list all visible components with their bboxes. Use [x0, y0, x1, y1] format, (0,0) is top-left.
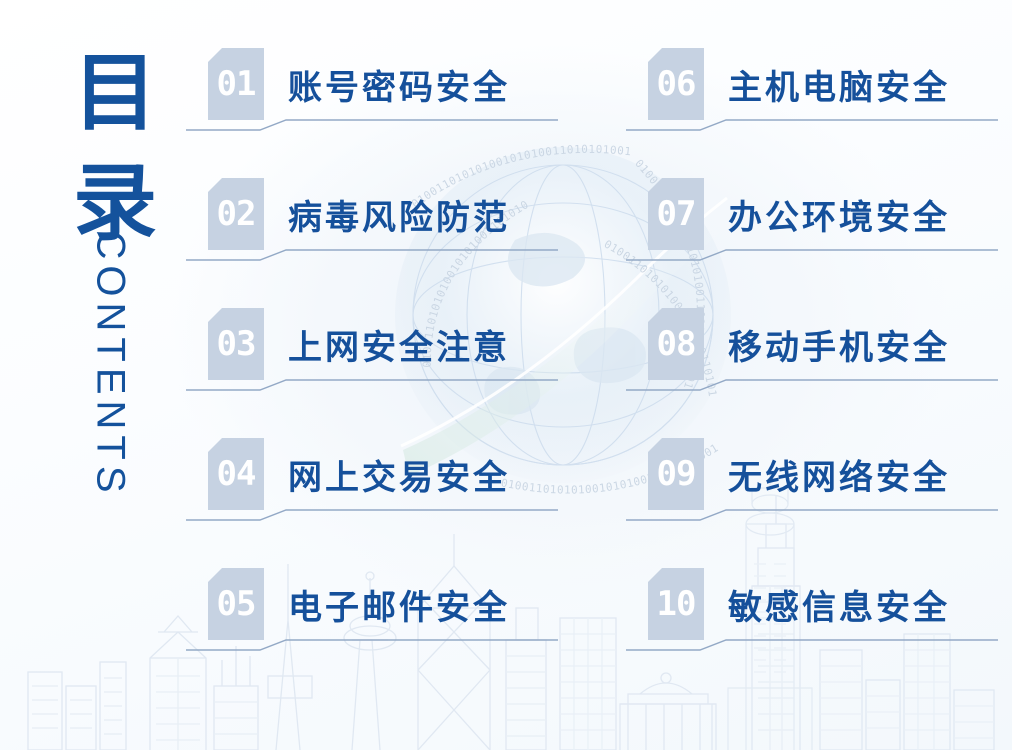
item-title: 移动手机安全	[728, 320, 950, 369]
item-number-badge: 09	[648, 438, 704, 510]
presentation-slide: 01001101010100101010011010101001 0100110…	[0, 0, 1012, 750]
item-number-badge: 07	[648, 178, 704, 250]
item-underline	[186, 508, 558, 524]
item-underline	[626, 638, 998, 654]
item-title: 办公环境安全	[728, 190, 950, 239]
item-number: 01	[217, 67, 256, 101]
item-number: 04	[217, 457, 256, 491]
list-item[interactable]: 02 病毒风险防范	[208, 178, 568, 308]
item-number: 07	[657, 197, 696, 231]
list-item[interactable]: 04 网上交易安全	[208, 438, 568, 568]
item-number-badge: 04	[208, 438, 264, 510]
item-underline	[626, 118, 998, 134]
item-title: 无线网络安全	[728, 450, 950, 499]
title-subtitle-contents: CONTENTS	[88, 231, 133, 491]
list-item[interactable]: 06 主机电脑安全	[648, 48, 1008, 178]
item-title: 网上交易安全	[288, 450, 510, 499]
item-number: 05	[217, 587, 256, 621]
list-item[interactable]: 03 上网安全注意	[208, 308, 568, 438]
item-number-badge: 03	[208, 308, 264, 380]
item-underline	[186, 378, 558, 394]
item-title: 敏感信息安全	[728, 580, 950, 629]
item-underline	[626, 248, 998, 264]
item-number-badge: 01	[208, 48, 264, 120]
title-char-1: 目	[46, 38, 186, 148]
item-number: 08	[657, 327, 696, 361]
item-number: 06	[657, 67, 696, 101]
item-number: 02	[217, 197, 256, 231]
item-title: 上网安全注意	[288, 320, 510, 369]
item-underline	[626, 508, 998, 524]
item-title: 病毒风险防范	[288, 190, 510, 239]
item-title: 电子邮件安全	[288, 580, 510, 629]
item-number: 10	[657, 587, 696, 621]
item-underline	[186, 638, 558, 654]
item-number-badge: 05	[208, 568, 264, 640]
item-number-badge: 10	[648, 568, 704, 640]
list-item[interactable]: 09 无线网络安全	[648, 438, 1008, 568]
list-item[interactable]: 01 账号密码安全	[208, 48, 568, 178]
item-title: 账号密码安全	[288, 60, 510, 109]
contents-right-column: 06 主机电脑安全 07 办公环境安全 08	[648, 48, 1008, 698]
item-number-badge: 02	[208, 178, 264, 250]
item-number-badge: 06	[648, 48, 704, 120]
item-number-badge: 08	[648, 308, 704, 380]
item-underline	[186, 248, 558, 264]
item-number: 03	[217, 327, 256, 361]
item-underline	[626, 378, 998, 394]
page-title: 目 录 CONTENTS	[46, 38, 196, 508]
item-underline	[186, 118, 558, 134]
list-item[interactable]: 07 办公环境安全	[648, 178, 1008, 308]
item-title: 主机电脑安全	[728, 60, 950, 109]
list-item[interactable]: 08 移动手机安全	[648, 308, 1008, 438]
list-item[interactable]: 10 敏感信息安全	[648, 568, 1008, 698]
list-item[interactable]: 05 电子邮件安全	[208, 568, 568, 698]
item-number: 09	[657, 457, 696, 491]
contents-left-column: 01 账号密码安全 02 病毒风险防范 03	[208, 48, 568, 698]
